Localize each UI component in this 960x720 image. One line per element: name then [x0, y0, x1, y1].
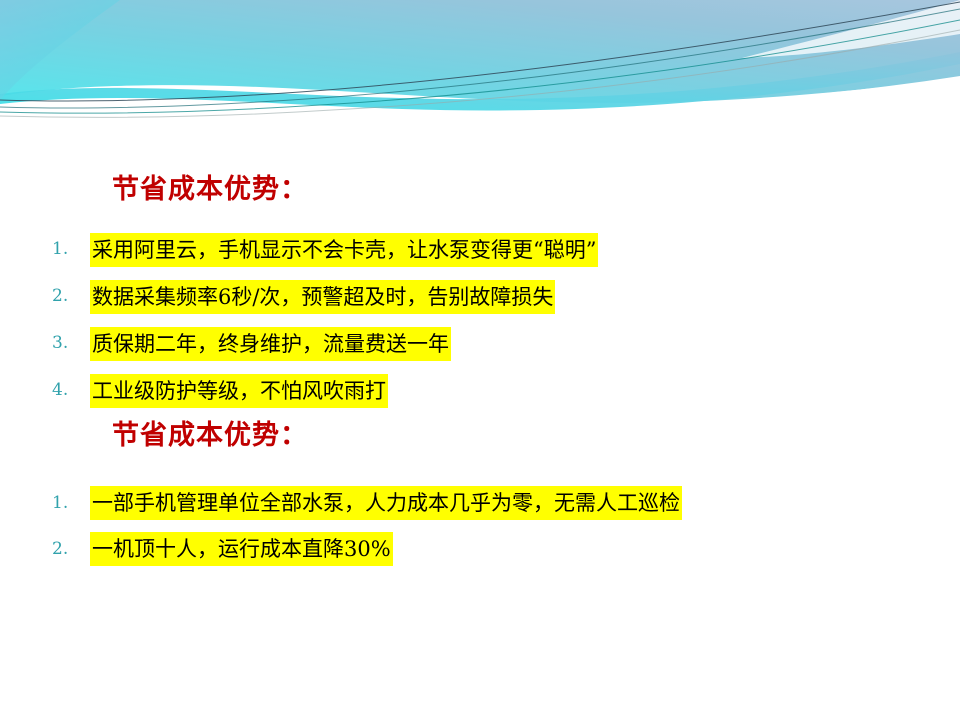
list-item[interactable]: 2. 数据采集频率6秒/次，预警超及时，告别故障损失 [0, 273, 960, 320]
list-item-text: 一机顶十人，运行成本直降30% [90, 532, 393, 566]
section-heading-1: 节省成本优势： [0, 168, 960, 212]
bullet-list-1: 1. 采用阿里云，手机显示不会卡壳，让水泵变得更“聪明” 2. 数据采集频率6秒… [0, 226, 960, 414]
slide-canvas: 节省成本优势： 1. 采用阿里云，手机显示不会卡壳，让水泵变得更“聪明” 2. … [0, 0, 960, 720]
list-item-number: 2. [52, 526, 82, 573]
list-item-number: 2. [52, 273, 82, 320]
bullet-list-2: 1. 一部手机管理单位全部水泵，人力成本几乎为零，无需人工巡检 2. 一机顶十人… [0, 480, 960, 572]
list-item[interactable]: 3. 质保期二年，终身维护，流量费送一年 [0, 320, 960, 367]
list-item[interactable]: 1. 采用阿里云，手机显示不会卡壳，让水泵变得更“聪明” [0, 226, 960, 273]
list-item-number: 1. [52, 480, 82, 527]
section-cost-saving-1: 节省成本优势： 1. 采用阿里云，手机显示不会卡壳，让水泵变得更“聪明” 2. … [0, 168, 960, 414]
list-item-number: 4. [52, 367, 82, 414]
list-item-text: 采用阿里云，手机显示不会卡壳，让水泵变得更“聪明” [90, 233, 598, 267]
list-item[interactable]: 1. 一部手机管理单位全部水泵，人力成本几乎为零，无需人工巡检 [0, 480, 960, 526]
list-item-text: 数据采集频率6秒/次，预警超及时，告别故障损失 [90, 280, 555, 314]
section-cost-saving-2: 节省成本优势： 1. 一部手机管理单位全部水泵，人力成本几乎为零，无需人工巡检 … [0, 414, 960, 572]
list-item-number: 3. [52, 320, 82, 367]
list-item-number: 1. [52, 226, 82, 273]
list-item[interactable]: 4. 工业级防护等级，不怕风吹雨打 [0, 367, 960, 414]
slide-content: 节省成本优势： 1. 采用阿里云，手机显示不会卡壳，让水泵变得更“聪明” 2. … [0, 0, 960, 720]
list-item-text: 一部手机管理单位全部水泵，人力成本几乎为零，无需人工巡检 [90, 486, 682, 520]
list-item[interactable]: 2. 一机顶十人，运行成本直降30% [0, 526, 960, 572]
list-item-text: 质保期二年，终身维护，流量费送一年 [90, 327, 451, 361]
section-heading-2: 节省成本优势： [0, 414, 960, 458]
list-item-text: 工业级防护等级，不怕风吹雨打 [90, 374, 388, 408]
